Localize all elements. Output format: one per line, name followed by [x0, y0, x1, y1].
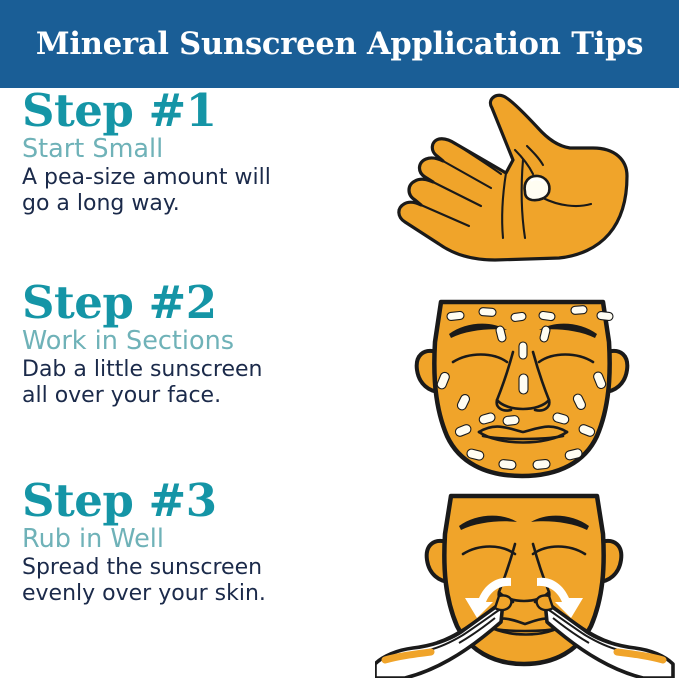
step-3-body-line-2: evenly over your skin.	[22, 581, 352, 607]
step-item-1: Step #1 Start Small A pea-size amount wi…	[0, 88, 679, 285]
step-2-title: Step #2	[22, 280, 352, 325]
step-2-body-line-2: all over your face.	[22, 383, 352, 409]
step-1-body: A pea-size amount will go a long way.	[22, 165, 352, 217]
step-item-3: Step #3 Rub in Well Spread the sunscreen…	[0, 478, 679, 675]
step-2-text: Step #2 Work in Sections Dab a little su…	[22, 280, 352, 409]
step-3-text: Step #3 Rub in Well Spread the sunscreen…	[22, 478, 352, 607]
step-1-text: Step #1 Start Small A pea-size amount wi…	[22, 88, 352, 217]
step-2-illustration	[375, 280, 675, 477]
step-2-body-line-1: Dab a little sunscreen	[22, 357, 352, 383]
face-with-hands-rubbing-icon	[375, 478, 675, 678]
page-title: Mineral Sunscreen Application Tips	[36, 29, 643, 60]
steps-container: Step #1 Start Small A pea-size amount wi…	[0, 88, 679, 679]
step-3-illustration	[375, 478, 675, 675]
step-1-subtitle: Start Small	[22, 135, 352, 164]
step-3-body-line-1: Spread the sunscreen	[22, 555, 352, 581]
step-2-body: Dab a little sunscreen all over your fac…	[22, 357, 352, 409]
open-palm-with-sunscreen-dollop-icon	[375, 88, 675, 285]
step-1-illustration	[375, 88, 675, 285]
step-3-body: Spread the sunscreen evenly over your sk…	[22, 555, 352, 607]
sunscreen-tips-infographic: Mineral Sunscreen Application Tips Step …	[0, 0, 679, 679]
step-2-subtitle: Work in Sections	[22, 327, 352, 356]
face-with-sunscreen-dabs-icon	[375, 280, 675, 485]
sunscreen-dollop-icon	[525, 176, 550, 200]
header-banner: Mineral Sunscreen Application Tips	[0, 0, 679, 88]
step-3-subtitle: Rub in Well	[22, 525, 352, 554]
step-item-2: Step #2 Work in Sections Dab a little su…	[0, 280, 679, 477]
step-1-title: Step #1	[22, 88, 352, 133]
step-3-title: Step #3	[22, 478, 352, 523]
step-1-body-line-1: A pea-size amount will	[22, 165, 352, 191]
step-1-body-line-2: go a long way.	[22, 191, 352, 217]
